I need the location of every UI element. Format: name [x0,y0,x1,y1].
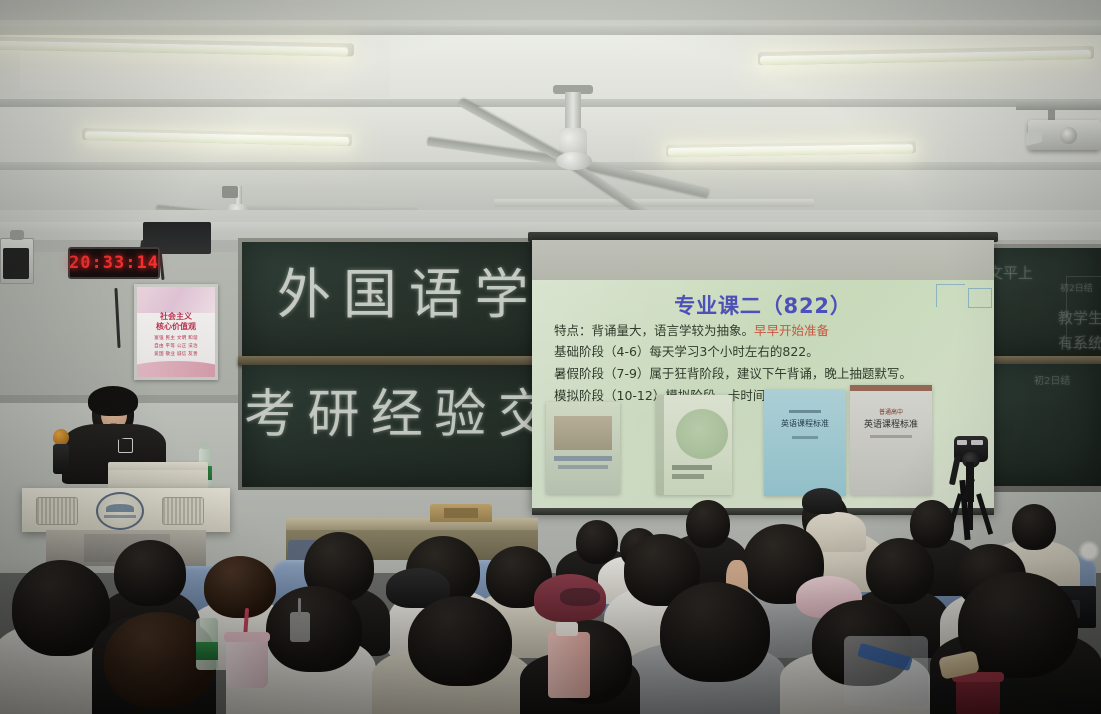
foreground-shadow [0,560,1101,714]
classroom-photo-scene: 20:33:14 社会主义 核心价值观 富强 民主 文明 和谐 自由 平等 公正… [0,0,1101,714]
